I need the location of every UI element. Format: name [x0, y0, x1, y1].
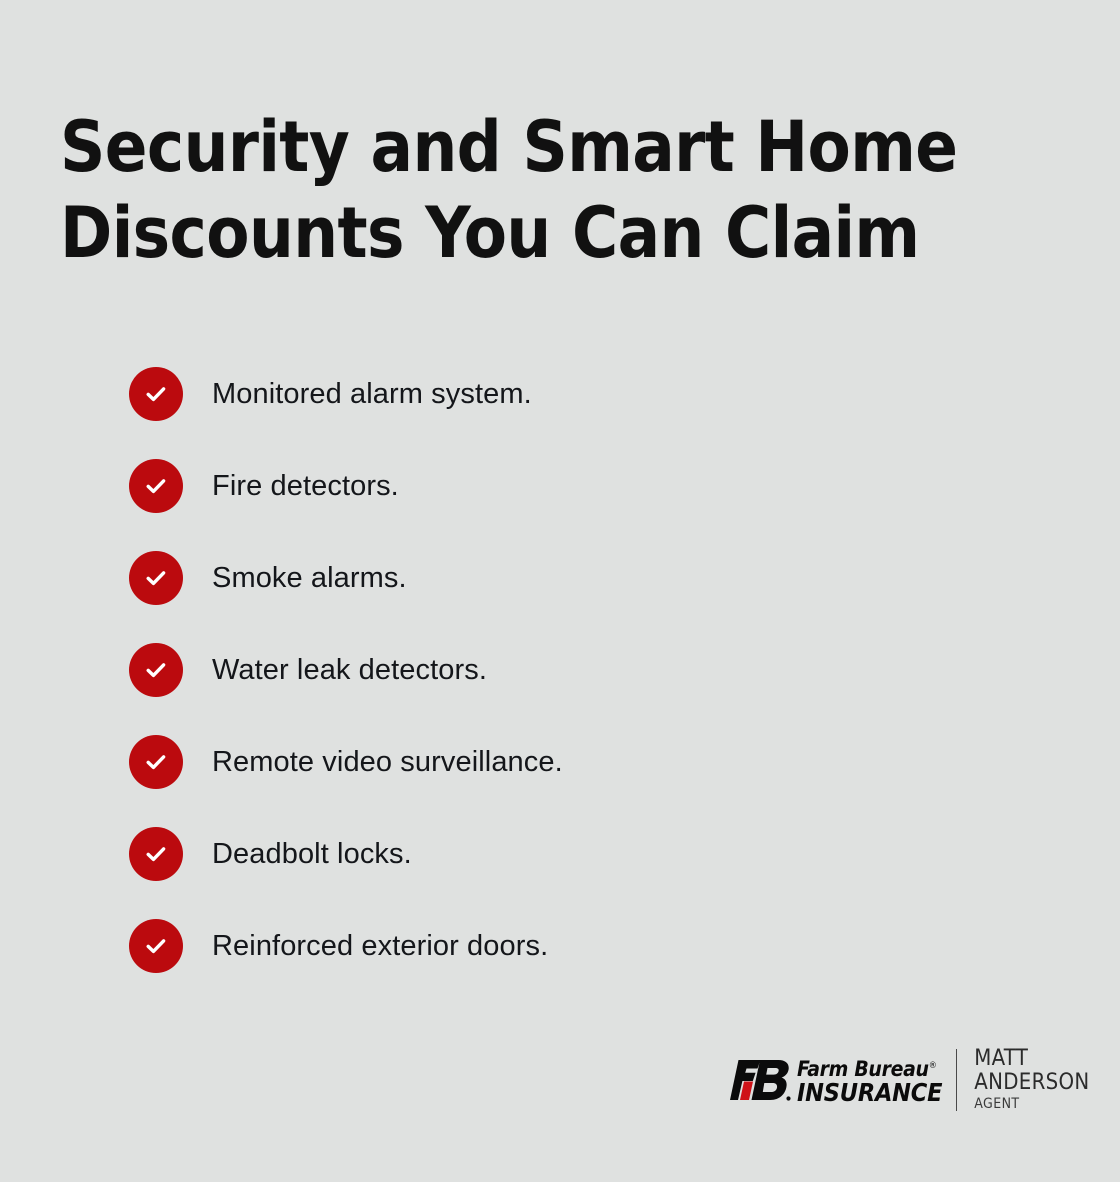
agent-role-label: AGENT [974, 1095, 1089, 1113]
brand-name-line-2: INSURANCE [797, 1080, 942, 1106]
registered-trademark-mark: ® [929, 1061, 937, 1071]
list-item-label: Fire detectors. [212, 469, 399, 503]
marketing-card: Security and Smart Home Discounts You Ca… [0, 0, 1120, 1182]
agent-first-name: MATT [974, 1047, 1089, 1071]
check-icon [129, 459, 183, 513]
list-item-label: Water leak detectors. [212, 653, 487, 687]
page-title-line-1: Security and Smart Home [60, 104, 1020, 190]
agent-last-name: ANDERSON [974, 1071, 1089, 1095]
list-item: Fire detectors. [129, 459, 1009, 513]
list-item-label: Monitored alarm system. [212, 377, 532, 411]
page-title: Security and Smart Home Discounts You Ca… [60, 104, 1020, 276]
farm-bureau-fb-monogram-icon [730, 1057, 792, 1103]
lockup-divider [956, 1049, 957, 1111]
list-item-label: Reinforced exterior doors. [212, 929, 548, 963]
brand-name-line-1: Farm Bureau® [797, 1055, 942, 1080]
farm-bureau-wordmark: Farm Bureau® INSURANCE [797, 1055, 942, 1106]
list-item: Reinforced exterior doors. [129, 919, 1009, 973]
list-item: Remote video surveillance. [129, 735, 1009, 789]
list-item-label: Deadbolt locks. [212, 837, 412, 871]
agent-identity: MATT ANDERSON AGENT [974, 1047, 1089, 1113]
list-item-label: Remote video surveillance. [212, 745, 563, 779]
check-icon [129, 551, 183, 605]
discount-checklist: Monitored alarm system. Fire detectors. … [129, 367, 1009, 973]
list-item: Water leak detectors. [129, 643, 1009, 697]
list-item: Monitored alarm system. [129, 367, 1009, 421]
check-icon [129, 643, 183, 697]
agent-brand-lockup: Farm Bureau® INSURANCE MATT ANDERSON AGE… [730, 1048, 1089, 1112]
farm-bureau-insurance-logo: Farm Bureau® INSURANCE [730, 1056, 942, 1104]
page-title-line-2: Discounts You Can Claim [60, 190, 1020, 276]
check-icon [129, 735, 183, 789]
check-icon [129, 367, 183, 421]
list-item: Deadbolt locks. [129, 827, 1009, 881]
list-item-label: Smoke alarms. [212, 561, 407, 595]
list-item: Smoke alarms. [129, 551, 1009, 605]
check-icon [129, 919, 183, 973]
check-icon [129, 827, 183, 881]
